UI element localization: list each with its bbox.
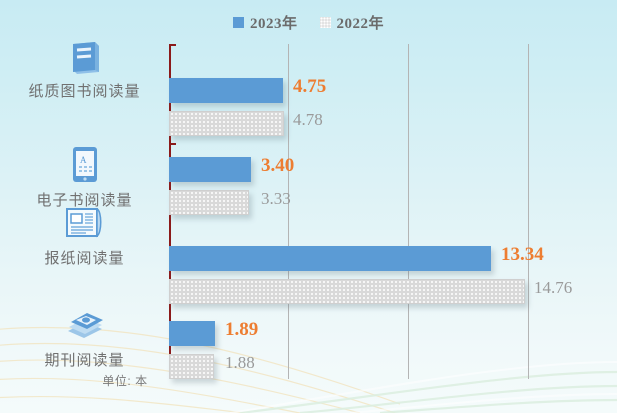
category-label-3: 期刊阅读量 [0,305,169,370]
unit-note: 单位: 本 [60,372,190,389]
category-text-2: 报纸阅读量 [44,251,124,267]
chart-container: 2023年 2022年 纸质图书阅读量 4.75 4.78 [0,0,617,413]
category-label-2: 报纸阅读量 [0,203,169,268]
legend-item-2023[interactable]: 2023年 [233,12,298,33]
bars-group-3: 1.89 1.88 [169,44,617,379]
legend-label-2022: 2022年 [337,12,385,33]
bar-2023-3[interactable] [169,321,215,346]
magazine-icon [62,305,108,345]
category-text-3: 期刊阅读量 [44,353,124,369]
newspaper-icon [62,203,108,243]
legend: 2023年 2022年 [0,12,617,33]
svg-text:A: A [80,155,87,165]
category-label-1: A 电子书阅读量 [0,145,169,210]
bar-value-2022-3: 1.88 [225,353,255,373]
legend-label-2023: 2023年 [250,12,298,33]
legend-swatch-2022-icon [320,17,331,28]
tablet-icon: A [67,145,103,185]
legend-swatch-2023-icon [233,17,244,28]
category-text-0: 纸质图书阅读量 [28,84,140,100]
book-icon [65,40,105,76]
legend-item-2022[interactable]: 2022年 [320,12,385,33]
category-label-0: 纸质图书阅读量 [0,40,169,101]
bar-value-2023-3: 1.89 [225,319,258,341]
